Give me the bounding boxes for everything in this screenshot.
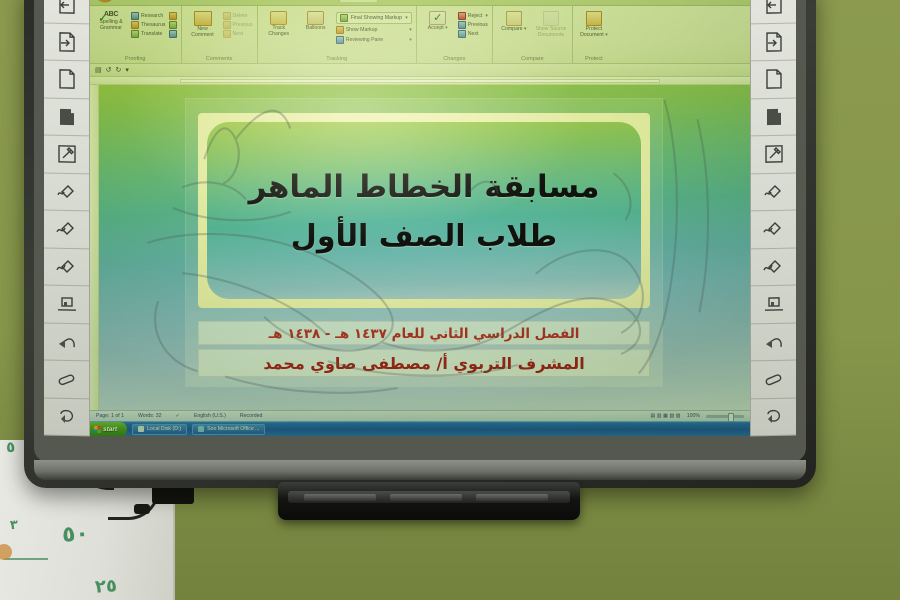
research-button[interactable]: Research (131, 12, 166, 20)
pen-slot[interactable] (476, 494, 548, 501)
quick-access-toolbar: ▤ ↺ ↻ ▾ (90, 64, 750, 77)
page-indicator[interactable]: Page: 1 of 1 (96, 413, 124, 419)
chevron-down-icon: ▾ (409, 37, 412, 43)
new-comment-button[interactable]: New Comment (186, 10, 220, 39)
previous-comment-button[interactable]: Previous (223, 21, 253, 29)
redo-arrow-icon[interactable] (44, 398, 89, 436)
research-label: Research (141, 13, 163, 19)
chevron-down-icon: ▾ (605, 32, 608, 38)
previous-page-icon[interactable] (44, 0, 89, 24)
term-year-line[interactable]: الفصل الدراسي الثاني للعام ١٤٣٧ هـ - ١٤٣… (198, 321, 650, 345)
eraser-icon[interactable] (751, 361, 796, 399)
translation-screentip-icon (169, 12, 177, 20)
set-language-icon (169, 21, 177, 29)
view-buttons[interactable]: ▤ ▥ ▦ ▧ ▨ (650, 413, 680, 419)
ribbon-group-compare: Compare ▾ Show Source Documents Compare (493, 6, 573, 63)
protect-document-button[interactable]: Protect Document ▾ (577, 10, 611, 39)
undo-arrow-icon[interactable] (44, 323, 89, 361)
word-count-icon (169, 30, 177, 38)
new-page-icon[interactable] (751, 61, 796, 99)
previous-change-button[interactable]: Previous (458, 21, 488, 29)
pen-slot[interactable] (390, 494, 462, 501)
chevron-down-icon: ▾ (485, 13, 488, 19)
word-count[interactable]: Words: 32 (138, 413, 162, 419)
office-button[interactable] (94, 0, 116, 3)
undo-icon[interactable]: ↺ (106, 66, 112, 74)
word-count-button[interactable] (169, 30, 177, 38)
compare-button[interactable]: Compare ▾ (497, 10, 531, 33)
pen-medium-icon[interactable] (44, 211, 89, 249)
proofing-icon[interactable]: ✓ (176, 413, 180, 419)
show-source-documents-button[interactable]: Show Source Documents (534, 10, 568, 39)
status-bar: Page: 1 of 1 Words: 32 ✓ English (U.S.) … (90, 410, 750, 421)
new-page-icon[interactable] (44, 61, 89, 99)
undo-arrow-icon[interactable] (751, 323, 796, 361)
delete-comment-icon (223, 12, 231, 20)
save-icon[interactable]: ▤ (95, 66, 102, 74)
pen-thick-icon[interactable] (44, 248, 89, 286)
previous-page-icon[interactable] (751, 0, 796, 24)
start-label: start (103, 426, 117, 433)
ribbon-group-tracking: Track Changes Balloons Final Showin (258, 6, 417, 63)
customize-icon[interactable]: ▾ (125, 66, 129, 74)
previous-comment-label: Previous (233, 22, 253, 28)
vertical-ruler[interactable] (90, 85, 99, 410)
track-indicator[interactable]: Recorded (240, 413, 263, 419)
word-doc-icon (198, 426, 204, 432)
redo-icon[interactable]: ↻ (116, 66, 122, 74)
chevron-down-icon: ▾ (405, 15, 408, 21)
accept-button[interactable]: ✓ Accept ▾ (421, 10, 455, 32)
group-label-changes: Changes (421, 56, 488, 63)
group-label-protect: Protect (577, 56, 611, 63)
taskbar-item-local-disk[interactable]: Local Disk (D:) (132, 424, 187, 435)
whiteboard-surface: Home Insert Page Layout References Maili… (34, 0, 806, 462)
display-for-review-icon (340, 14, 348, 22)
pen-thin-icon[interactable] (751, 173, 796, 211)
tab-home[interactable]: Home (124, 0, 156, 2)
projected-screen: Home Insert Page Layout References Maili… (90, 0, 750, 436)
reviewing-pane-button[interactable]: Reviewing Pane ▾ (336, 36, 412, 44)
marker-note: ٢٥ (94, 575, 117, 597)
reviewing-pane-icon (336, 36, 344, 44)
thesaurus-button[interactable]: Thesaurus (131, 21, 166, 29)
board-toolbar-right[interactable] (750, 0, 796, 436)
ribbon-group-changes: ✓ Accept ▾ Reject ▾ (417, 6, 493, 63)
delete-comment-label: Delete (233, 13, 248, 19)
marker-divider (4, 558, 48, 560)
accept-label: Accept (428, 25, 444, 31)
folder-icon (138, 426, 144, 432)
show-source-documents-label: Show Source Documents (535, 26, 566, 38)
classroom-wall: ٥ ١٠ ٢٠ ٣ ٥٠ ٢٥ (0, 0, 900, 600)
compare-label: Compare (501, 26, 522, 32)
horizontal-ruler[interactable] (90, 77, 750, 85)
taskbar-item-label: Local Disk (D:) (147, 426, 181, 432)
research-icon (131, 12, 139, 20)
ribbon-group-comments: New Comment Delete Previous (182, 6, 258, 63)
balloons-button[interactable]: Balloons (299, 10, 333, 32)
wordart-frame[interactable]: مسابقة الخطاط الماهر طلاب الصف الأول (198, 113, 650, 308)
previous-change-icon (458, 21, 466, 29)
next-comment-icon (223, 30, 231, 38)
new-comment-icon (194, 11, 212, 26)
marker-note: ٥٠ (61, 521, 90, 548)
ruler-text-area (180, 79, 660, 83)
track-changes-button[interactable]: Track Changes (262, 10, 296, 38)
select-pen-icon[interactable] (44, 136, 89, 174)
set-language-button[interactable] (169, 21, 177, 29)
show-source-documents-icon (543, 11, 559, 26)
ribbon: ABC Spelling & Grammar Research (90, 6, 750, 64)
group-label-proofing: Proofing (94, 56, 177, 63)
tab-review[interactable]: Review (339, 0, 378, 2)
chevron-down-icon: ▾ (409, 27, 412, 33)
delete-comment-button[interactable]: Delete (223, 12, 253, 20)
show-markup-button[interactable]: Show Markup ▾ (336, 26, 412, 34)
display-for-review-label: Final Showing Markup (351, 15, 402, 21)
track-changes-label: Track Changes (268, 25, 289, 37)
group-label-compare: Compare (497, 56, 568, 63)
abc-check-icon: ABC (94, 11, 128, 19)
track-changes-icon (270, 11, 287, 25)
fill-color-icon[interactable] (751, 98, 796, 136)
keyboard-icon[interactable] (44, 286, 89, 324)
select-pen-icon[interactable] (751, 136, 796, 174)
ribbon-tabs: Home Insert Page Layout References Maili… (124, 0, 408, 2)
start-button[interactable]: start (90, 422, 127, 437)
taskbar-item-label: Soo Microsoft Office ... (207, 426, 259, 432)
zoom-level[interactable]: 100% (687, 413, 700, 419)
display-for-review-dropdown[interactable]: Final Showing Markup ▾ (336, 12, 412, 24)
headline-secondary: طلاب الصف الأول (291, 219, 557, 254)
chevron-down-icon: ▾ (445, 25, 448, 31)
balloons-icon (307, 11, 324, 25)
headline-primary: مسابقة الخطاط الماهر (249, 169, 600, 205)
translation-screentip-button[interactable] (169, 12, 177, 20)
keyboard-icon[interactable] (751, 286, 796, 324)
reviewing-pane-label: Reviewing Pane (346, 37, 384, 43)
interactive-whiteboard: Home Insert Page Layout References Maili… (24, 0, 816, 488)
previous-change-label: Previous (468, 22, 488, 28)
accept-icon: ✓ (429, 11, 446, 25)
translate-label: Translate (141, 31, 162, 37)
tab-mailings[interactable]: Mailings (298, 0, 337, 2)
reject-button[interactable]: Reject ▾ (458, 12, 488, 20)
pen-tray[interactable] (278, 482, 580, 520)
next-page-icon[interactable] (44, 23, 89, 61)
thesaurus-icon (131, 21, 139, 29)
thesaurus-label: Thesaurus (141, 22, 166, 28)
cable-connector (134, 504, 150, 514)
next-change-icon (458, 30, 466, 38)
spelling-grammar-button[interactable]: ABC Spelling & Grammar (94, 10, 128, 32)
show-markup-icon (336, 26, 344, 34)
tab-references[interactable]: References (246, 0, 295, 2)
next-comment-button[interactable]: Next (223, 30, 253, 38)
whiteboard-bezel (34, 460, 806, 480)
group-label-tracking: Tracking (262, 56, 412, 63)
language-indicator[interactable]: English (U.S.) (194, 413, 226, 419)
zoom-slider[interactable] (706, 415, 744, 418)
tab-view[interactable]: View (380, 0, 409, 2)
redo-arrow-icon[interactable] (751, 398, 796, 436)
ribbon-group-protect: Protect Document ▾ Protect (573, 6, 615, 63)
compare-icon (506, 11, 522, 26)
windows-taskbar: start Local Disk (D:) Soo Microsoft Offi… (90, 421, 750, 436)
translate-button[interactable]: Translate (131, 30, 166, 38)
board-toolbar-left[interactable] (44, 0, 90, 436)
previous-comment-icon (223, 21, 231, 29)
windows-logo-icon (94, 426, 101, 433)
marker-note: ٥ (5, 438, 15, 457)
reject-icon (458, 12, 466, 20)
protect-document-icon (586, 11, 602, 26)
translate-icon (131, 30, 139, 38)
document-canvas[interactable]: مسابقة الخطاط الماهر طلاب الصف الأول الف… (90, 85, 750, 410)
show-markup-label: Show Markup (346, 27, 378, 33)
pen-slot[interactable] (304, 494, 376, 501)
marker-note: ٣ (9, 518, 18, 534)
word-window: Home Insert Page Layout References Maili… (90, 0, 750, 436)
chevron-down-icon: ▾ (524, 26, 527, 32)
eraser-icon[interactable] (44, 361, 89, 399)
pen-medium-icon[interactable] (751, 211, 796, 249)
supervisor-line[interactable]: المشرف التربوي أ/ مصطفى صاوي محمد (198, 349, 650, 377)
protect-document-label: Protect Document (580, 26, 604, 38)
balloons-label: Balloons (306, 25, 326, 31)
document-page[interactable]: مسابقة الخطاط الماهر طلاب الصف الأول الف… (186, 99, 662, 386)
next-page-icon[interactable] (751, 23, 796, 61)
tab-insert[interactable]: Insert (158, 0, 189, 2)
next-change-button[interactable]: Next (458, 30, 488, 38)
reject-label: Reject (468, 13, 483, 19)
pen-thin-icon[interactable] (44, 173, 89, 211)
tab-page-layout[interactable]: Page Layout (192, 0, 245, 2)
taskbar-item-word[interactable]: Soo Microsoft Office ... (192, 424, 265, 435)
pen-thick-icon[interactable] (751, 248, 796, 286)
fill-color-icon[interactable] (44, 98, 89, 136)
new-comment-label: New Comment (191, 26, 214, 38)
next-change-label: Next (468, 31, 479, 37)
ribbon-group-proofing: ABC Spelling & Grammar Research (90, 6, 182, 63)
group-label-comments: Comments (186, 56, 253, 63)
wordart-inner: مسابقة الخطاط الماهر طلاب الصف الأول (207, 122, 641, 299)
next-comment-label: Next (233, 31, 244, 37)
